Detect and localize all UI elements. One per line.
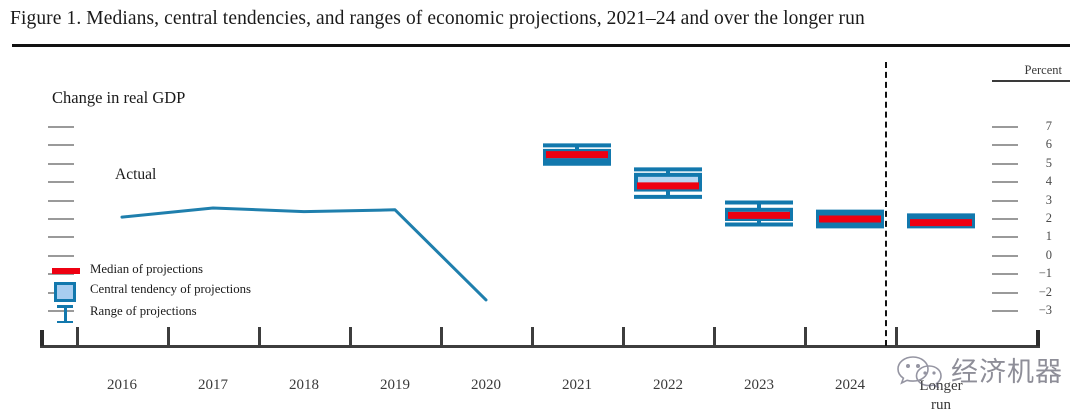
boxplot-2022 — [634, 169, 702, 197]
watermark: 经济机器 — [893, 352, 1073, 408]
x-tick — [258, 327, 261, 345]
x-tick — [349, 327, 352, 345]
figure-panel: Figure 1. Medians, central tendencies, a… — [0, 0, 1080, 420]
legend-label-central-tendency: Central tendency of projections — [90, 282, 251, 297]
x-axis-label-2016: 2016 — [77, 377, 167, 394]
boxplot-2021 — [543, 145, 611, 163]
x-tick — [713, 327, 716, 345]
x-tick — [804, 327, 807, 345]
x-axis-label-2018: 2018 — [259, 377, 349, 394]
x-tick — [440, 327, 443, 345]
x-axis-label-2022: 2022 — [623, 377, 713, 394]
median-swatch-icon — [52, 268, 80, 274]
x-axis-label-2021: 2021 — [532, 377, 622, 394]
central-tendency-swatch-icon — [54, 282, 76, 302]
x-axis-line — [40, 345, 1040, 348]
x-axis-label-2017: 2017 — [168, 377, 258, 394]
boxplot-longer-run — [907, 215, 975, 226]
legend-label-median: Median of projections — [90, 262, 203, 277]
legend-label-range: Range of projections — [90, 304, 197, 319]
x-axis-label-2020: 2020 — [441, 377, 531, 394]
x-tick — [622, 327, 625, 345]
x-axis-label-2019: 2019 — [350, 377, 440, 394]
x-tick — [531, 327, 534, 345]
range-swatch-icon — [53, 305, 77, 323]
x-axis-end-cap-left — [40, 330, 44, 346]
boxplot-2023 — [725, 202, 793, 224]
watermark-text: 经济机器 — [951, 350, 1063, 389]
x-tick — [895, 327, 898, 345]
x-tick — [167, 327, 170, 345]
x-tick — [76, 327, 79, 345]
wechat-icon — [895, 354, 947, 388]
x-axis-label-2023: 2023 — [714, 377, 804, 394]
x-axis-label-2024: 2024 — [805, 377, 895, 394]
longer-run-divider — [885, 62, 887, 346]
boxplot-2024 — [816, 212, 884, 227]
x-axis-end-cap-right — [1036, 330, 1040, 346]
